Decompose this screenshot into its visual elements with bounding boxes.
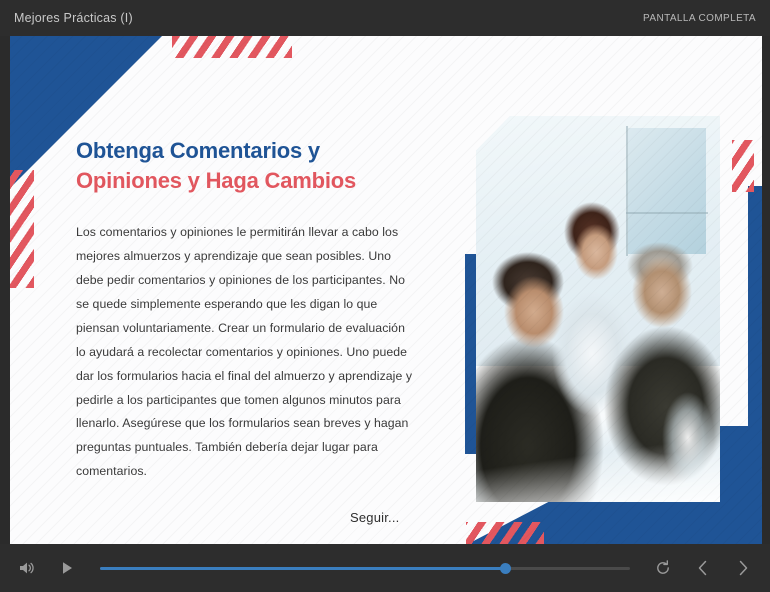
player-control-bar xyxy=(0,544,770,592)
decor-red-stripes-right xyxy=(732,140,754,192)
decor-red-stripes-left xyxy=(10,170,34,288)
slide-heading-blue-part: Obtenga Comentarios y xyxy=(76,138,320,163)
decor-red-stripes-bottom xyxy=(466,522,544,544)
volume-button[interactable] xyxy=(14,555,40,581)
course-player: Mejores Prácticas (I) PANTALLA COMPLETA … xyxy=(0,0,770,592)
decor-blue-band-right xyxy=(748,186,762,486)
player-top-bar: Mejores Prácticas (I) PANTALLA COMPLETA xyxy=(0,0,770,36)
next-slide-button[interactable] xyxy=(730,555,756,581)
meeting-photo-image xyxy=(476,116,720,502)
fullscreen-button[interactable]: PANTALLA COMPLETA xyxy=(643,13,756,24)
lesson-title: Mejores Prácticas (I) xyxy=(14,11,133,25)
replay-button[interactable] xyxy=(650,555,676,581)
slide-text-column: Obtenga Comentarios y Opiniones y Haga C… xyxy=(76,136,416,484)
decor-red-stripes-top xyxy=(172,36,292,58)
slide-heading: Obtenga Comentarios y Opiniones y Haga C… xyxy=(76,136,416,197)
previous-slide-button[interactable] xyxy=(690,555,716,581)
slide-stage: Obtenga Comentarios y Opiniones y Haga C… xyxy=(10,36,762,544)
slide-heading-red-part: Opiniones y Haga Cambios xyxy=(76,168,356,193)
seek-progress xyxy=(100,567,505,570)
continue-label[interactable]: Seguir... xyxy=(350,510,400,525)
slide-photo xyxy=(476,116,720,502)
seek-handle[interactable] xyxy=(500,563,511,574)
play-button[interactable] xyxy=(54,555,80,581)
slide-body-text: Los comentarios y opiniones le permitirá… xyxy=(76,221,416,485)
seek-bar[interactable] xyxy=(100,559,630,577)
